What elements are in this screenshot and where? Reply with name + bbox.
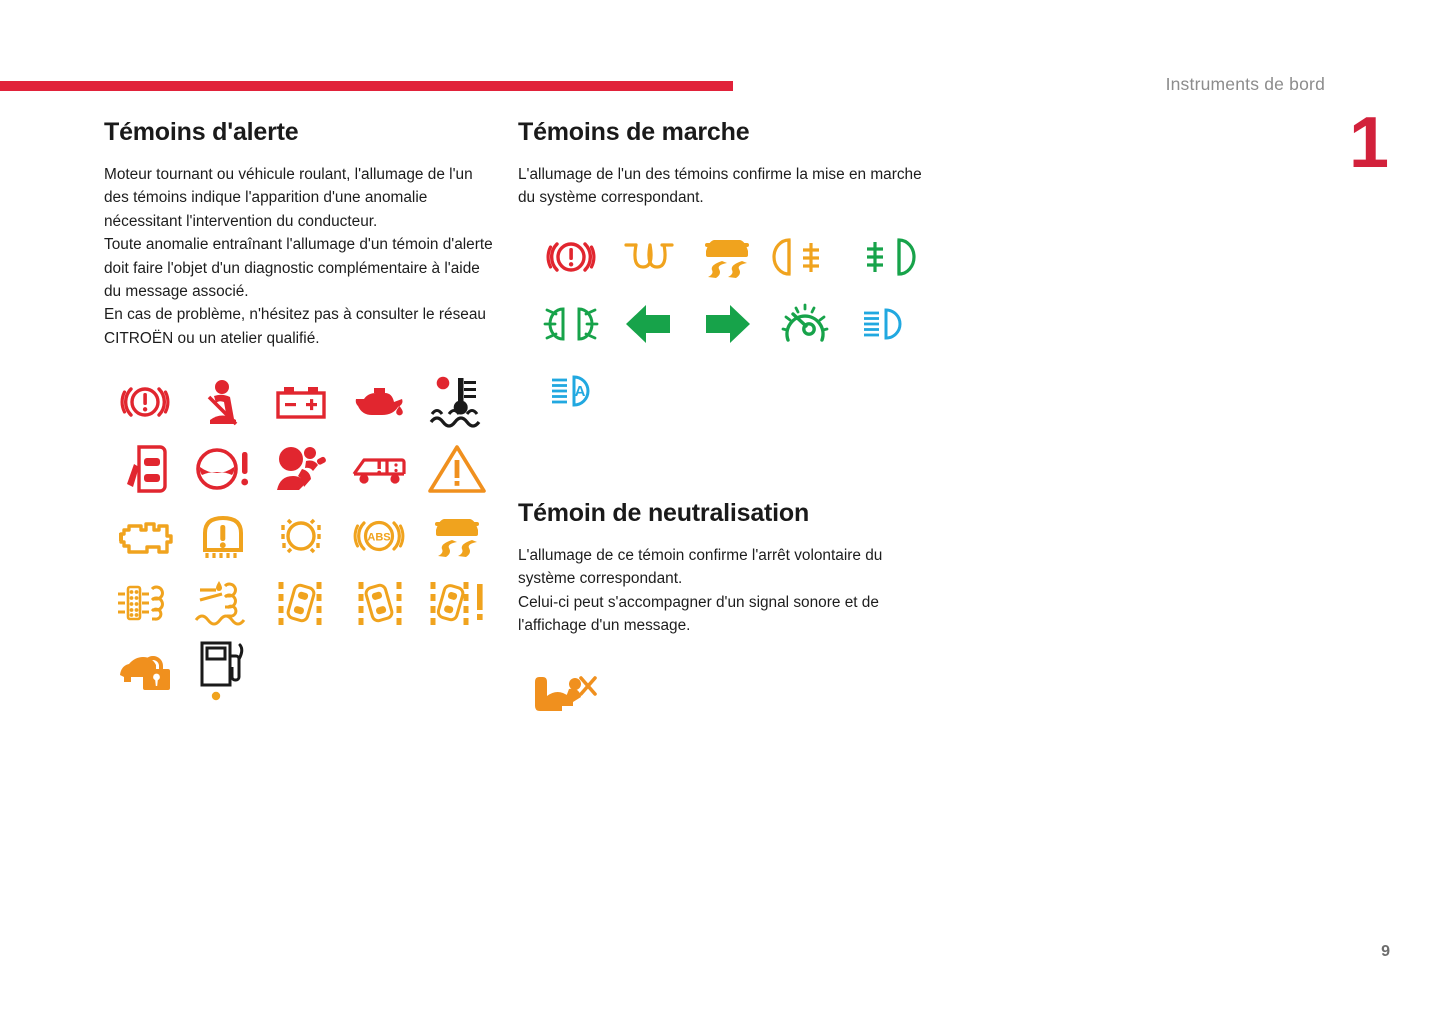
- water-in-diesel-icon: [187, 572, 259, 634]
- engine-check-icon: [109, 505, 181, 567]
- section-title-marche: Témoins de marche: [518, 118, 938, 147]
- immobiliser-icon: [109, 639, 181, 701]
- lane-departure-right-icon: [343, 572, 415, 634]
- trailer-load-icon: [343, 438, 415, 500]
- header-red-bar: [0, 81, 733, 91]
- auto-main-beam-icon: A: [535, 360, 607, 422]
- section-body-neutralisation: L'allumage de ce témoin confirme l'arrêt…: [518, 544, 938, 638]
- section-body-alerte: Moteur tournant ou véhicule roulant, l'a…: [104, 163, 496, 350]
- door-open-icon: [109, 438, 181, 500]
- right-column: Témoins de marche L'allumage de l'un des…: [518, 118, 938, 725]
- battery-charge-icon: [265, 371, 337, 433]
- lane-departure-alert-icon: [421, 572, 493, 634]
- seatbelt-warning-icon: [187, 371, 259, 433]
- warning-triangle-icon: [421, 438, 493, 500]
- particulate-filter-icon: [109, 572, 181, 634]
- page-header-title: Instruments de bord: [1166, 74, 1325, 95]
- svg-text:ABS: ABS: [367, 531, 390, 543]
- esp-active-icon: [691, 226, 763, 288]
- abs-icon: ABS: [343, 505, 415, 567]
- passenger-airbag-off-icon: [530, 663, 602, 725]
- parking-brake-icon: [535, 226, 607, 288]
- front-fog-lamp-icon: [847, 226, 919, 288]
- section-title-alerte: Témoins d'alerte: [104, 118, 496, 147]
- turn-signal-left-icon: [613, 293, 685, 355]
- tyre-pressure-icon: [187, 505, 259, 567]
- rear-fog-lamp-icon: [769, 226, 841, 288]
- left-column: Témoins d'alerte Moteur tournant ou véhi…: [104, 118, 496, 703]
- page-number: 9: [1381, 943, 1390, 961]
- turn-signal-right-icon: [691, 293, 763, 355]
- warning-lamps-grid: ABS: [106, 368, 496, 703]
- svg-text:A: A: [575, 383, 586, 400]
- esp-traction-icon: [421, 505, 493, 567]
- coolant-temperature-icon: [421, 371, 493, 433]
- lane-departure-left-icon: [265, 572, 337, 634]
- neutralisation-lamp-group: [530, 663, 938, 725]
- glow-plugs-icon: [613, 226, 685, 288]
- section-body-marche: L'allumage de l'un des témoins confirme …: [518, 163, 938, 210]
- chapter-number: 1: [1349, 107, 1389, 179]
- main-beam-icon: [847, 293, 919, 355]
- brake-pad-wear-icon: [265, 505, 337, 567]
- fuel-level-icon: [187, 639, 259, 701]
- brake-warning-icon: [109, 371, 181, 433]
- engine-oil-pressure-icon: [343, 371, 415, 433]
- airbag-icon: [265, 438, 337, 500]
- power-steering-icon: [187, 438, 259, 500]
- running-lamps-grid: A: [532, 224, 938, 425]
- section-title-neutralisation: Témoin de neutralisation: [518, 499, 938, 528]
- speed-limiter-icon: [769, 293, 841, 355]
- side-lamps-icon: [535, 293, 607, 355]
